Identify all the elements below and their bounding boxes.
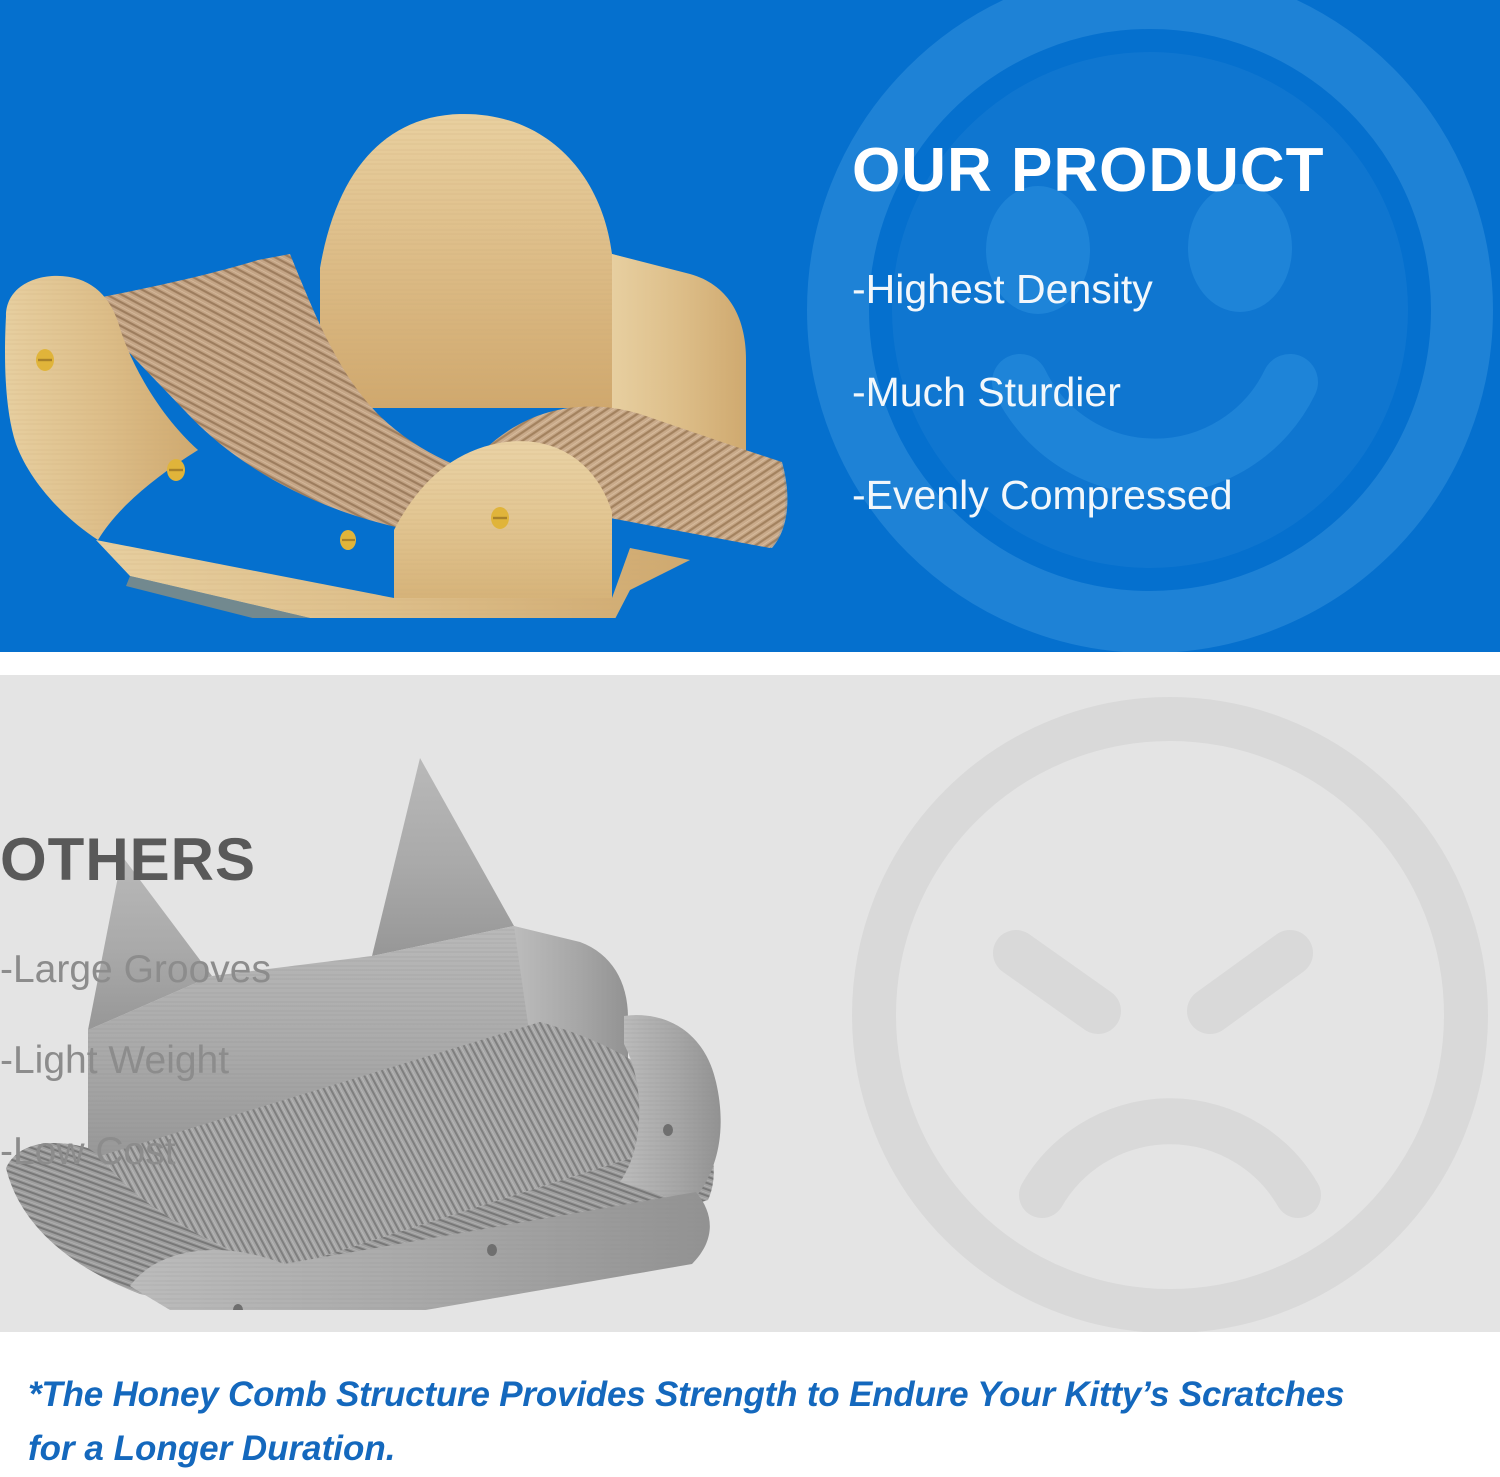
- our-product-panel: OUR PRODUCT -Highest Density -Much Sturd…: [0, 0, 1500, 652]
- our-product-bullet-list: -Highest Density -Much Sturdier -Evenly …: [852, 266, 1472, 519]
- others-bullet-1: -Large Grooves: [0, 948, 620, 993]
- our-product-bullet-1: -Highest Density: [852, 266, 1472, 313]
- caption-line-1: *The Honey Comb Structure Provides Stren…: [28, 1368, 1478, 1422]
- others-text-block: OTHERS -Large Grooves -Light Weight -Low…: [0, 830, 620, 1175]
- footnote-caption: *The Honey Comb Structure Provides Stren…: [28, 1368, 1478, 1477]
- our-product-photo: [0, 78, 850, 618]
- others-bullet-2: -Light Weight: [0, 1039, 620, 1084]
- caption-line-2: for a Longer Duration.: [28, 1422, 1478, 1476]
- others-panel: OTHERS -Large Grooves -Light Weight -Low…: [0, 675, 1500, 1332]
- others-heading: OTHERS: [0, 830, 620, 890]
- our-product-bullet-2: -Much Sturdier: [852, 369, 1472, 416]
- others-bullet-3: -Low Cost: [0, 1130, 620, 1175]
- our-product-text-block: OUR PRODUCT -Highest Density -Much Sturd…: [852, 140, 1472, 519]
- frowning-face-icon: [820, 675, 1500, 1332]
- our-product-bullet-3: -Evenly Compressed: [852, 472, 1472, 519]
- others-bullet-list: -Large Grooves -Light Weight -Low Cost: [0, 948, 620, 1175]
- our-product-heading: OUR PRODUCT: [852, 140, 1472, 202]
